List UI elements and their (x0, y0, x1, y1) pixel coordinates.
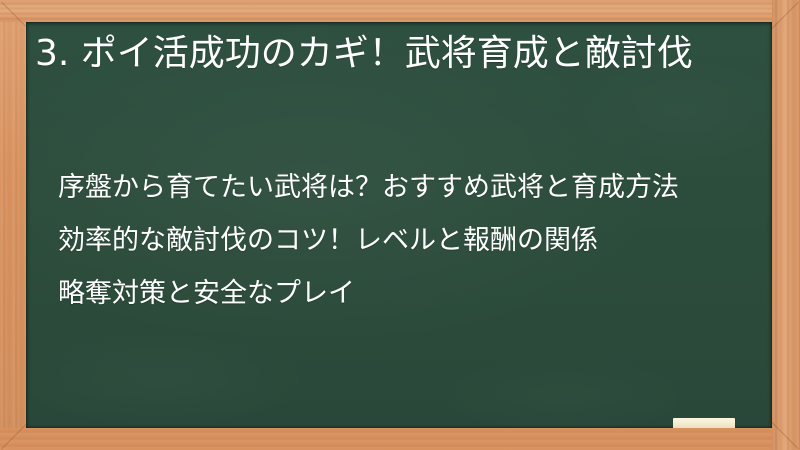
bullet-list: 序盤から育てたい武将は？おすすめ武将と育成方法 効率的な敵討伐のコツ！レベルと報… (58, 170, 748, 311)
bullet-item-2: 効率的な敵討伐のコツ！レベルと報酬の関係 (58, 223, 748, 258)
frame-rail-bottom (0, 428, 800, 450)
frame-rail-right (772, 0, 800, 450)
slide-title: 3. ポイ活成功のカギ！武将育成と敵討伐 (35, 31, 735, 77)
chalk-stick-icon (673, 418, 735, 428)
bullet-item-3: 略奪対策と安全なプレイ (58, 276, 748, 311)
frame-rail-left (0, 0, 26, 450)
bullet-item-1: 序盤から育てたい武将は？おすすめ武将と育成方法 (58, 170, 748, 205)
frame-rail-top (0, 0, 800, 22)
chalkboard-surface: 3. ポイ活成功のカギ！武将育成と敵討伐 序盤から育てたい武将は？おすすめ武将と… (26, 22, 772, 428)
chalkboard-slide: 3. ポイ活成功のカギ！武将育成と敵討伐 序盤から育てたい武将は？おすすめ武将と… (0, 0, 800, 450)
